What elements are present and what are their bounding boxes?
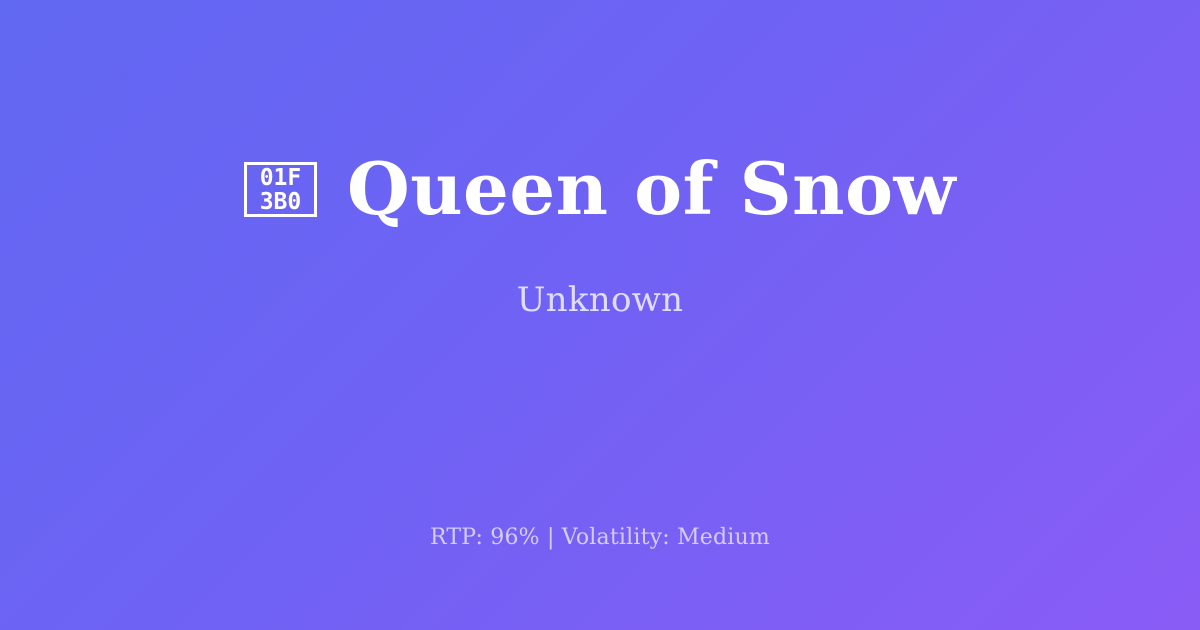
tofu-codepoint-row-bottom: 3B0 xyxy=(260,190,302,214)
game-stats-text: RTP: 96% | Volatility: Medium xyxy=(430,525,770,551)
meta-footer: RTP: 96% | Volatility: Medium xyxy=(0,525,1200,551)
page-title: Queen of Snow xyxy=(347,151,956,227)
slot-machine-icon: 01F 3B0 xyxy=(244,162,317,217)
og-share-card: 01F 3B0 Queen of Snow Unknown RTP: 96% |… xyxy=(0,0,1200,630)
hero-block: 01F 3B0 Queen of Snow Unknown xyxy=(0,0,1200,470)
title-row: 01F 3B0 Queen of Snow xyxy=(244,151,956,227)
tofu-codepoint-row-top: 01F xyxy=(260,166,302,190)
game-provider-subtitle: Unknown xyxy=(517,282,684,319)
